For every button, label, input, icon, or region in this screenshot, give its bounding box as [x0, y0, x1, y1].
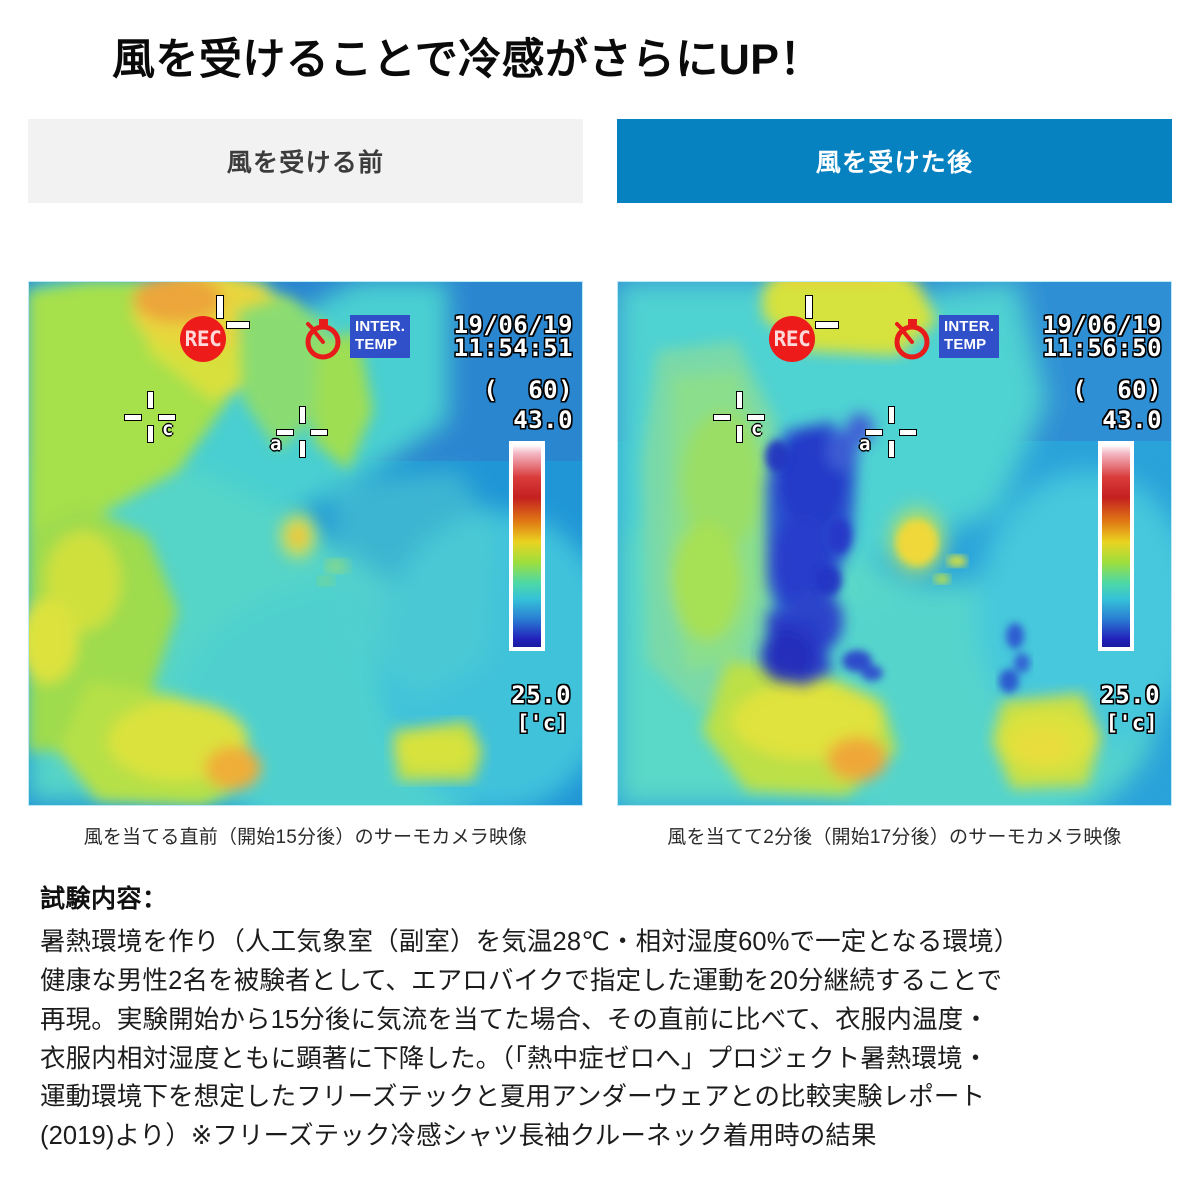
body-line: 運動環境下を想定したフリーズテックと夏用アンダーウェアとの比較実験レポート [40, 1078, 1172, 1117]
body-line: (2019)より）※フリーズテック冷感シャツ長袖クルーネック着用時の結果 [40, 1117, 1172, 1156]
panel-header-row: 風を受ける前 風を受けた後 [28, 119, 1172, 203]
thermal-panel-before: REC INTER. TEMP [28, 237, 583, 806]
thermal-render-before [28, 281, 583, 806]
caption-after: 風を当てて2分後（開始17分後）のサーモカメラ映像 [617, 822, 1172, 849]
panel-before: 風を受ける前 [28, 119, 583, 203]
caption-row: 風を当てる直前（開始15分後）のサーモカメラ映像 風を当てて2分後（開始17分後… [28, 822, 1172, 849]
thermal-image-row: REC INTER. TEMP [28, 237, 1172, 806]
body-line: 健康な男性2名を被験者として、エアロバイクで指定した運動を20分継続することで [40, 962, 1172, 1001]
thermal-image-after: REC INTER. TEMP [617, 281, 1172, 806]
body-line: 再現。実験開始から15分後に気流を当てた場合、その直前に比べて、衣服内温度・ [40, 1001, 1172, 1040]
body-line: 暑熱環境を作り（人工気象室（副室）を気温28℃・相対湿度60%で一定となる環境） [40, 923, 1172, 962]
panel-after: 風を受けた後 [617, 119, 1172, 203]
caption-before: 風を当てる直前（開始15分後）のサーモカメラ映像 [28, 822, 583, 849]
panel-header-before: 風を受ける前 [28, 119, 583, 203]
thermal-image-before: REC INTER. TEMP [28, 281, 583, 806]
thermal-panel-after: REC INTER. TEMP [617, 237, 1172, 806]
test-description-heading: 試験内容： [40, 879, 1172, 915]
page-title: 風を受けることで冷感がさらにUP！ [28, 0, 1172, 85]
body-line: 衣服内相対湿度ともに顕著に下降した。（「熱中症ゼロへ」プロジェクト暑熱環境・ [40, 1040, 1172, 1079]
panel-header-after: 風を受けた後 [617, 119, 1172, 203]
thermal-render-after [617, 281, 1172, 806]
page-root: 風を受けることで冷感がさらにUP！ 風を受ける前 風を受けた後 [0, 0, 1200, 1200]
test-description-block: 試験内容： 暑熱環境を作り（人工気象室（副室）を気温28℃・相対湿度60%で一定… [28, 879, 1172, 1156]
